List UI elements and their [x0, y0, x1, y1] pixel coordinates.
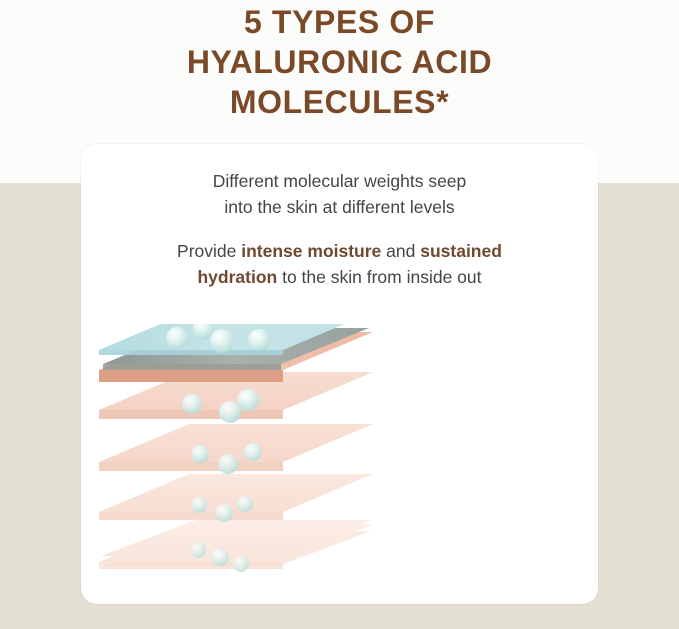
molecule-bubble	[211, 548, 229, 566]
skin-layers-diagram	[81, 324, 598, 584]
benefit-accent-sustained: sustained	[420, 241, 502, 261]
molecule-bubble	[166, 327, 188, 349]
benefit-paragraph: Provide intense moisture and sustainedhy…	[81, 238, 598, 290]
skin-layers-svg	[81, 324, 598, 584]
molecule-bubble	[191, 497, 207, 513]
molecule-bubble	[237, 496, 253, 512]
molecule-bubble	[210, 329, 234, 353]
page-title: 5 TYPES OF HYALURONIC ACID MOLECULES*	[0, 0, 679, 122]
molecule-bubble	[191, 445, 209, 463]
molecule-bubble	[248, 329, 270, 351]
intro-line-2: into the skin at different levels	[224, 197, 454, 217]
benefit-accent-intense-moisture: intense moisture	[241, 241, 381, 261]
molecule-bubble	[190, 542, 206, 558]
content-card: Different molecular weights seep into th…	[81, 144, 598, 604]
intro-line-1: Different molecular weights seep	[213, 171, 467, 191]
card-text-block: Different molecular weights seep into th…	[81, 168, 598, 290]
molecule-bubble	[237, 389, 259, 411]
intro-paragraph: Different molecular weights seep into th…	[81, 168, 598, 220]
molecule-bubble	[219, 401, 241, 423]
benefit-accent-hydration: hydration	[197, 267, 277, 287]
benefit-prefix: Provide	[177, 241, 241, 261]
molecule-bubble	[218, 454, 238, 474]
benefit-suffix: to the skin from inside out	[277, 267, 481, 287]
page-root: 5 TYPES OF HYALURONIC ACID MOLECULES* Di…	[0, 0, 679, 629]
page-title-line-3: MOLECULES*	[0, 82, 679, 122]
page-title-line-2: HYALURONIC ACID	[0, 42, 679, 82]
benefit-mid: and	[381, 241, 420, 261]
molecule-bubble	[182, 394, 202, 414]
molecule-bubble	[215, 504, 233, 522]
molecule-bubble	[233, 556, 249, 572]
skin-layer-4	[99, 474, 373, 520]
page-title-line-1: 5 TYPES OF	[0, 2, 679, 42]
molecule-bubble	[244, 443, 262, 461]
